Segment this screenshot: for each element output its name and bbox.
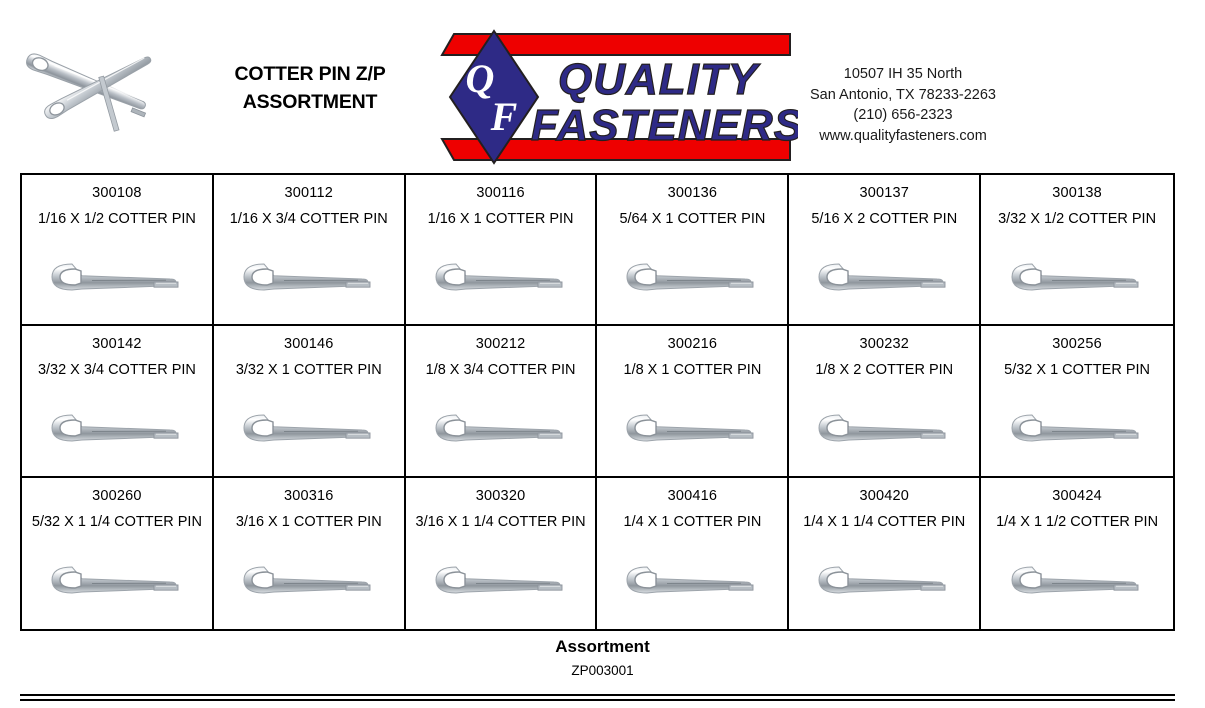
product-cell[interactable]: 3002161/8 X 1 COTTER PIN (597, 326, 789, 477)
part-image (981, 380, 1173, 475)
part-image (406, 229, 596, 324)
page-footer: Assortment ZP003001 (0, 636, 1205, 680)
part-image (789, 380, 979, 475)
product-cell[interactable]: 3002605/32 X 1 1/4 COTTER PIN (22, 478, 214, 629)
part-description: 1/16 X 1 COTTER PIN (428, 210, 574, 229)
product-title: COTTER PIN Z/P ASSORTMENT (212, 60, 408, 116)
part-number: 300108 (92, 184, 142, 203)
assortment-sheet: COTTER PIN Z/P ASSORTMENT Q F QUALITY FA… (0, 0, 1205, 708)
logo-letter-f: F (490, 94, 518, 139)
part-number: 300138 (1052, 184, 1102, 203)
part-number: 300137 (859, 184, 909, 203)
cotter-pin-icon (1002, 556, 1152, 604)
part-image (597, 532, 787, 629)
part-description: 5/32 X 1 1/4 COTTER PIN (32, 513, 202, 532)
cotter-pin-icon (809, 556, 959, 604)
address-line-city: San Antonio, TX 78233-2263 (772, 85, 1034, 106)
cotter-pin-icon (809, 404, 959, 452)
part-number: 300142 (92, 335, 142, 354)
address-line-website: www.qualityfasteners.com (772, 126, 1034, 147)
product-cell[interactable]: 3001375/16 X 2 COTTER PIN (789, 175, 981, 326)
part-image (22, 380, 212, 475)
part-number: 300146 (284, 335, 334, 354)
part-description: 1/8 X 3/4 COTTER PIN (426, 361, 576, 380)
product-title-line2: ASSORTMENT (212, 88, 408, 116)
part-number: 300136 (668, 184, 718, 203)
product-title-line1: COTTER PIN Z/P (212, 60, 408, 88)
part-description: 5/64 X 1 COTTER PIN (619, 210, 765, 229)
part-description: 1/4 X 1 1/2 COTTER PIN (996, 513, 1158, 532)
cotter-pin-icon (617, 556, 767, 604)
part-image (597, 380, 787, 475)
part-image (406, 380, 596, 475)
cotter-pin-icon (426, 556, 576, 604)
company-logo: Q F QUALITY FASTENERS (398, 26, 798, 168)
part-image (981, 229, 1173, 324)
product-cell[interactable]: 3004201/4 X 1 1/4 COTTER PIN (789, 478, 981, 629)
address-line-street: 10507 IH 35 North (772, 64, 1034, 85)
product-cell[interactable]: 3001463/32 X 1 COTTER PIN (214, 326, 406, 477)
part-number: 300232 (859, 335, 909, 354)
logo-word-quality: QUALITY (558, 55, 761, 104)
cotter-pin-icon (426, 253, 576, 301)
part-description: 3/32 X 1/2 COTTER PIN (998, 210, 1156, 229)
cotter-pin-icon (234, 404, 384, 452)
footer-rule-bottom (20, 699, 1175, 701)
part-image (789, 532, 979, 629)
product-grid: 3001081/16 X 1/2 COTTER PIN3001121/16 X … (20, 173, 1175, 631)
part-image (981, 532, 1173, 629)
address-line-phone: (210) 656-2323 (772, 105, 1034, 126)
part-image (22, 532, 212, 629)
part-description: 1/16 X 3/4 COTTER PIN (230, 210, 388, 229)
product-cell[interactable]: 3001383/32 X 1/2 COTTER PIN (981, 175, 1173, 326)
part-image (214, 380, 404, 475)
cotter-pin-icon (42, 404, 192, 452)
part-number: 300112 (284, 184, 333, 203)
part-image (214, 229, 404, 324)
part-description: 1/4 X 1 1/4 COTTER PIN (803, 513, 965, 532)
cotter-pin-icon (617, 253, 767, 301)
footer-assortment-code: ZP003001 (0, 661, 1205, 680)
product-cell[interactable]: 3003203/16 X 1 1/4 COTTER PIN (406, 478, 598, 629)
part-number: 300260 (92, 487, 142, 506)
footer-title: Assortment (0, 636, 1205, 658)
cotter-pin-icon (617, 404, 767, 452)
cotter-pin-icon (234, 556, 384, 604)
cotter-pins-photo (20, 28, 210, 153)
part-number: 300316 (284, 487, 334, 506)
part-description: 1/4 X 1 COTTER PIN (624, 513, 762, 532)
part-number: 300320 (476, 487, 526, 506)
part-image (789, 229, 979, 324)
product-cell[interactable]: 3003163/16 X 1 COTTER PIN (214, 478, 406, 629)
cotter-pins-photo-icon (20, 28, 210, 153)
part-number: 300116 (476, 184, 525, 203)
company-address: 10507 IH 35 North San Antonio, TX 78233-… (772, 64, 1034, 146)
part-number: 300216 (668, 335, 718, 354)
cotter-pin-icon (42, 556, 192, 604)
product-cell[interactable]: 3002321/8 X 2 COTTER PIN (789, 326, 981, 477)
part-image (214, 532, 404, 629)
cotter-pin-icon (234, 253, 384, 301)
part-image (597, 229, 787, 324)
part-number: 300420 (859, 487, 909, 506)
part-number: 300212 (476, 335, 526, 354)
part-description: 3/16 X 1 COTTER PIN (236, 513, 382, 532)
product-cell[interactable]: 3004241/4 X 1 1/2 COTTER PIN (981, 478, 1173, 629)
part-number: 300256 (1052, 335, 1102, 354)
part-number: 300424 (1052, 487, 1102, 506)
part-description: 1/16 X 1/2 COTTER PIN (38, 210, 196, 229)
part-description: 5/32 X 1 COTTER PIN (1004, 361, 1150, 380)
part-image (406, 532, 596, 629)
part-number: 300416 (668, 487, 718, 506)
cotter-pin-icon (426, 404, 576, 452)
cotter-pin-icon (42, 253, 192, 301)
cotter-pin-icon (1002, 404, 1152, 452)
product-cell[interactable]: 3002565/32 X 1 COTTER PIN (981, 326, 1173, 477)
part-description: 1/8 X 1 COTTER PIN (624, 361, 762, 380)
product-cell[interactable]: 3001121/16 X 3/4 COTTER PIN (214, 175, 406, 326)
cotter-pin-icon (1002, 253, 1152, 301)
product-cell[interactable]: 3004161/4 X 1 COTTER PIN (597, 478, 789, 629)
part-description: 5/16 X 2 COTTER PIN (811, 210, 957, 229)
page-header: COTTER PIN Z/P ASSORTMENT Q F QUALITY FA… (0, 0, 1205, 168)
part-description: 1/8 X 2 COTTER PIN (815, 361, 953, 380)
product-cell[interactable]: 3001081/16 X 1/2 COTTER PIN (22, 175, 214, 326)
product-cell[interactable]: 3001365/64 X 1 COTTER PIN (597, 175, 789, 326)
part-description: 3/32 X 3/4 COTTER PIN (38, 361, 196, 380)
cotter-pin-icon (809, 253, 959, 301)
product-cell[interactable]: 3001423/32 X 3/4 COTTER PIN (22, 326, 214, 477)
product-cell[interactable]: 3001161/16 X 1 COTTER PIN (406, 175, 598, 326)
logo-word-fasteners: FASTENERS (531, 101, 798, 150)
quality-fasteners-logo-icon: Q F QUALITY FASTENERS (398, 26, 798, 168)
part-description: 3/32 X 1 COTTER PIN (236, 361, 382, 380)
product-cell[interactable]: 3002121/8 X 3/4 COTTER PIN (406, 326, 598, 477)
footer-rule-top (20, 694, 1175, 696)
part-image (22, 229, 212, 324)
part-description: 3/16 X 1 1/4 COTTER PIN (416, 513, 586, 532)
